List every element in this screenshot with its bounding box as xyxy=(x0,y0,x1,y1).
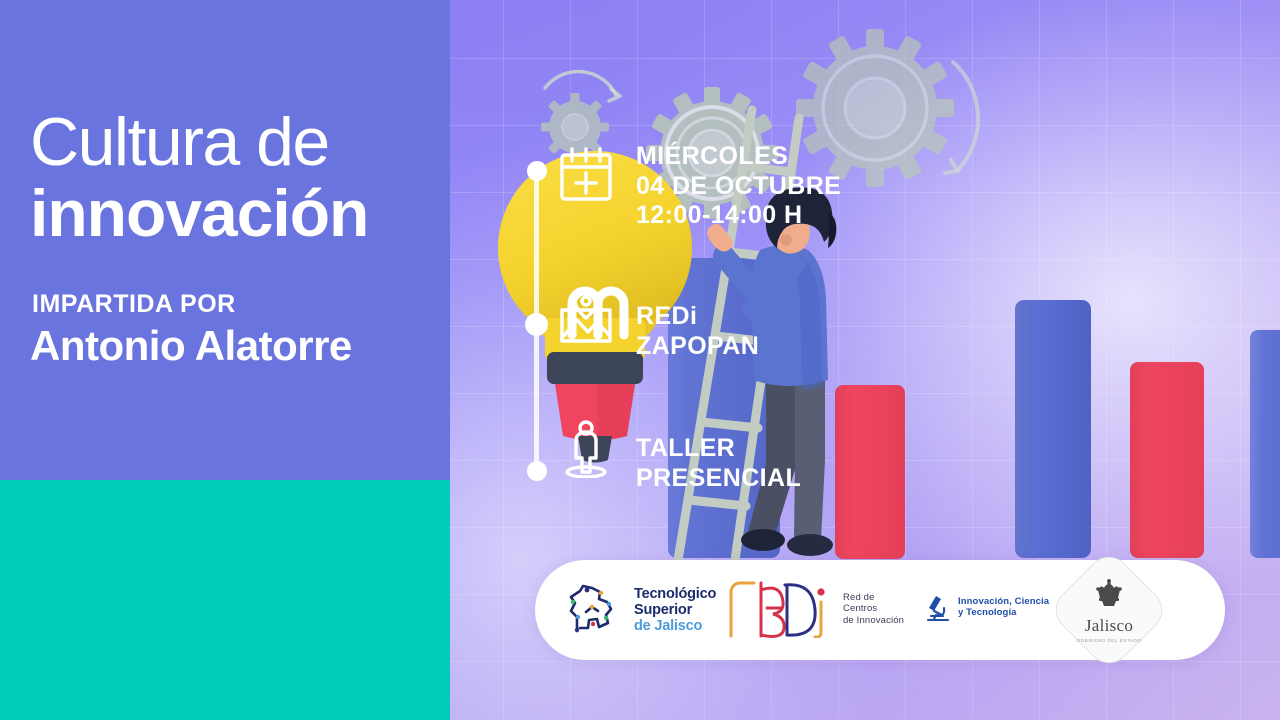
logo-jalisco-gobierno: Jalisco GOBIERNO DEL ESTADO xyxy=(1065,566,1153,654)
tsj-wordmark: Tecnológico Superior de Jalisco xyxy=(634,586,716,635)
jalisco-crown-icon xyxy=(1092,578,1126,608)
redi-line-1: Red de xyxy=(843,592,904,604)
ict-wordmark: Innovación, Ciencia y Tecnología xyxy=(958,597,1049,619)
redi-tagline: Red de Centros de Innovación xyxy=(843,592,904,627)
redi-line-2: Centros xyxy=(843,603,904,615)
redi-line-3: de Innovación xyxy=(843,615,904,627)
tsj-line-1: Tecnológico xyxy=(634,586,716,602)
logo-redi: Red de Centros de Innovación xyxy=(725,580,904,638)
timeline-dot-place xyxy=(525,313,548,336)
date-line-3: 12:00-14:00 H xyxy=(636,201,841,231)
mode-line-1: TALLER xyxy=(636,434,801,464)
map-pin-icon xyxy=(558,288,614,346)
page-title-line2: innovación xyxy=(30,180,368,246)
sponsor-logo-bar: Tecnológico Superior de Jalisco xyxy=(535,560,1225,660)
jalisco-subtitle: GOBIERNO DEL ESTADO xyxy=(1077,638,1142,643)
detail-text-location: REDi ZAPOPAN xyxy=(636,302,759,361)
timeline-dot-mode xyxy=(527,461,547,481)
jalisco-dot-map-icon xyxy=(563,584,625,636)
logo-innovacion-ciencia-tecnologia: Innovación, Ciencia y Tecnología xyxy=(925,593,1049,623)
date-line-2: 04 DE OCTUBRE xyxy=(636,172,841,202)
jalisco-seal-diamond: Jalisco GOBIERNO DEL ESTADO xyxy=(1047,548,1171,672)
microscope-icon xyxy=(925,593,951,623)
logo-tecnologico-superior-jalisco: Tecnológico Superior de Jalisco xyxy=(563,584,716,636)
mode-line-2: PRESENCIAL xyxy=(636,464,801,494)
redi-wordmark-icon xyxy=(725,580,833,638)
jalisco-wordmark: Jalisco xyxy=(1085,616,1133,636)
location-line-2: ZAPOPAN xyxy=(636,332,759,362)
tsj-line-2: Superior xyxy=(634,602,716,618)
timeline-dot-date xyxy=(527,161,547,181)
person-standing-icon xyxy=(558,420,614,478)
ict-line-2: y Tecnología xyxy=(958,608,1049,619)
left-accent-block xyxy=(0,480,450,720)
presenter-label: IMPARTIDA POR xyxy=(32,292,236,317)
location-line-1: REDi xyxy=(636,302,759,332)
page-title-line1: Cultura de xyxy=(30,108,329,176)
tsj-line-3: de Jalisco xyxy=(634,618,716,634)
calendar-plus-icon xyxy=(558,146,614,204)
detail-text-date: MIÉRCOLES 04 DE OCTUBRE 12:00-14:00 H xyxy=(636,142,841,231)
date-line-1: MIÉRCOLES xyxy=(636,142,841,172)
left-panel-content: Cultura de innovación IMPARTIDA POR Anto… xyxy=(30,0,450,480)
poster-canvas: Cultura de innovación IMPARTIDA POR Anto… xyxy=(0,0,1280,720)
presenter-name: Antonio Alatorre xyxy=(30,325,352,367)
detail-text-mode: TALLER PRESENCIAL xyxy=(636,434,801,493)
